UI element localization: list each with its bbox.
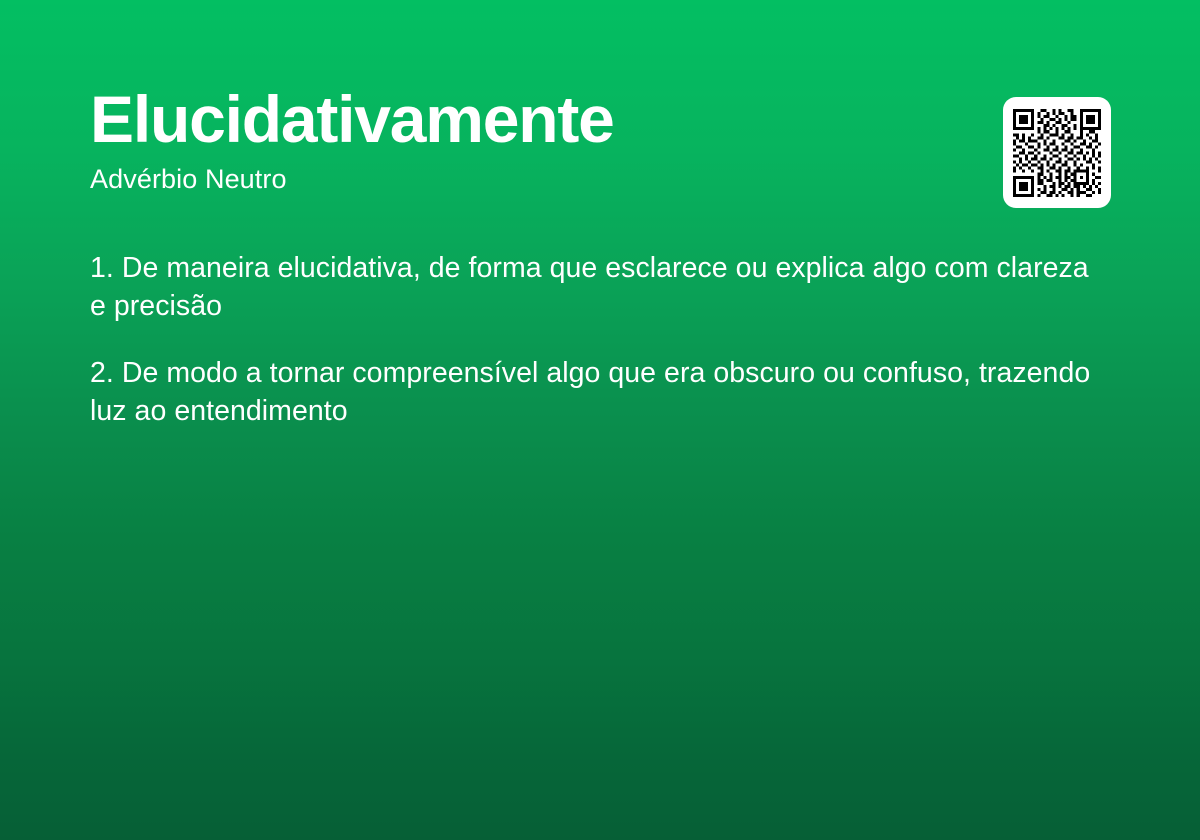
definition-item: 2. De modo a tornar compreensível algo q… bbox=[90, 354, 1110, 430]
definition-item: 1. De maneira elucidativa, de forma que … bbox=[90, 249, 1110, 325]
dictionary-card: Elucidativamente Advérbio Neutro bbox=[0, 0, 1200, 840]
qr-code-icon bbox=[1013, 109, 1101, 197]
qr-code-card[interactable] bbox=[1003, 97, 1111, 208]
page-title: Elucidativamente bbox=[90, 86, 1110, 152]
word-class-label: Advérbio Neutro bbox=[90, 166, 1110, 193]
card-header: Elucidativamente Advérbio Neutro bbox=[90, 86, 1110, 216]
definitions-list: 1. De maneira elucidativa, de forma que … bbox=[90, 249, 1110, 430]
card-footer: e escreva.ai bbox=[0, 720, 1200, 840]
